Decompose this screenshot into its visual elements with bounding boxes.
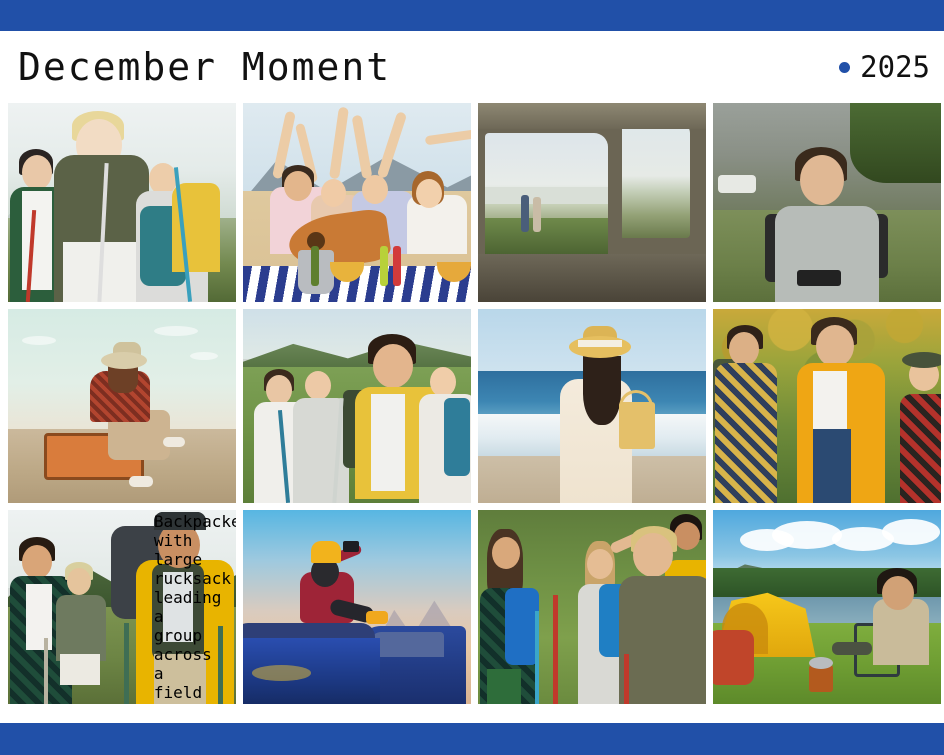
gallery-photo-10[interactable]: Traveler on a blue car roof photographin… — [243, 510, 471, 704]
gallery-photo-6[interactable]: Hiking group walking through a green alp… — [243, 309, 471, 503]
bullet-dot-icon — [839, 62, 850, 73]
gallery-photo-7[interactable]: Woman in a straw hat and dress walking a… — [478, 309, 706, 503]
gallery-photo-2[interactable]: Friends celebrating at a beach picnic wi… — [243, 103, 471, 302]
gallery-photo-11[interactable]: Young hikers with blue backpacks in a su… — [478, 510, 706, 704]
gallery-photo-8[interactable]: Hikers in an autumn forest, man in a yel… — [713, 309, 941, 503]
bottom-accent-bar — [0, 723, 944, 755]
slide-header: December Moment 2025 — [0, 31, 944, 103]
gallery-photo-9[interactable]: Backpacker with large rucksack leading a… — [8, 510, 236, 704]
gallery-photo-3[interactable]: Couple seen through a camper van window … — [478, 103, 706, 302]
gallery-photo-5[interactable]: Woman in a straw hat sitting on an orang… — [8, 309, 236, 503]
gallery-photo-1[interactable]: Group of hikers with trekking poles on a… — [8, 103, 236, 302]
photo-alt-text: Backpacker with large rucksack leading a… — [154, 512, 206, 530]
page-title: December Moment — [18, 48, 391, 86]
gallery-photo-4[interactable]: Man with backpack standing in front of a… — [713, 103, 941, 302]
year-badge: 2025 — [839, 53, 930, 82]
photo-gallery-grid: Group of hikers with trekking poles on a… — [8, 103, 944, 704]
gallery-photo-12[interactable]: Camper relaxing in a chair beside a yell… — [713, 510, 941, 704]
year-label: 2025 — [860, 53, 930, 82]
top-accent-bar — [0, 0, 944, 31]
